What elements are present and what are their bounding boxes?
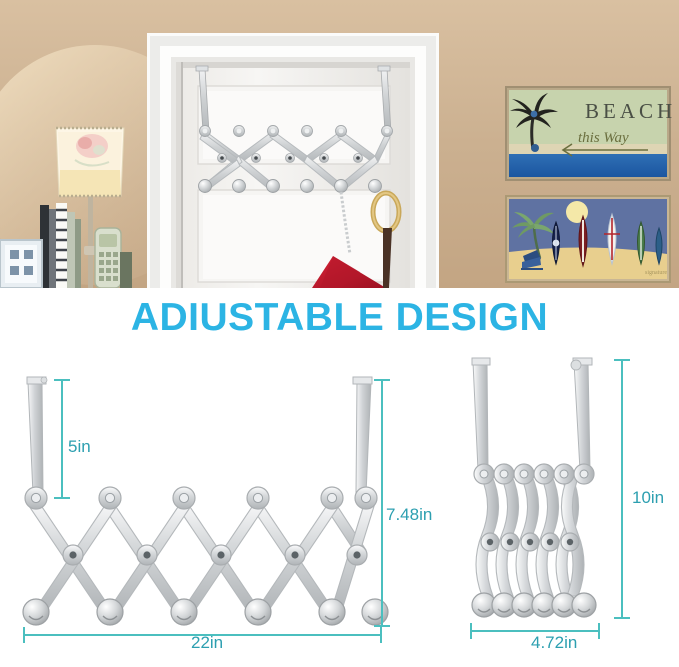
dimension-diagrams bbox=[0, 350, 679, 667]
dimension-label-22in: 22in bbox=[191, 633, 223, 653]
rack-bottom-hooks bbox=[472, 593, 596, 617]
books-stack bbox=[40, 203, 81, 288]
svg-text:signature: signature bbox=[645, 270, 667, 276]
bracket-arm-right bbox=[353, 377, 372, 494]
dimension-label-4-72in: 4.72in bbox=[531, 633, 577, 653]
bracket-arm-right bbox=[571, 358, 592, 470]
dimension-label-10in: 10in bbox=[632, 488, 664, 508]
table-lamp bbox=[56, 128, 124, 196]
beach-sign-line1: BEACH bbox=[585, 99, 676, 123]
beach-sign-line2: this Way bbox=[578, 130, 629, 146]
rack-middle-joints bbox=[481, 533, 579, 551]
expanded-rack-diagram bbox=[0, 350, 440, 667]
surfboards-artwork: signature bbox=[506, 196, 670, 282]
ocean-band bbox=[509, 154, 667, 177]
bracket-arm-left bbox=[472, 358, 490, 470]
picture-frame bbox=[0, 240, 42, 288]
rack-bottom-hooks bbox=[23, 599, 388, 625]
dimension-10in bbox=[614, 360, 630, 618]
dimension-label-7-48in: 7.48in bbox=[386, 505, 432, 525]
product-in-use-photo: BEACH this Way bbox=[0, 0, 679, 288]
page-title: ADIUSTABLE DESIGN bbox=[0, 296, 679, 340]
product-infographic: BEACH this Way bbox=[0, 0, 679, 667]
dimension-label-5in: 5in bbox=[68, 437, 91, 457]
rack-top-pivots bbox=[25, 487, 377, 509]
bracket-arm-left bbox=[27, 377, 47, 494]
rack-middle-joints bbox=[63, 545, 367, 565]
collapsed-rack-diagram bbox=[440, 350, 679, 667]
beach-sign-artwork: BEACH this Way bbox=[506, 87, 676, 180]
